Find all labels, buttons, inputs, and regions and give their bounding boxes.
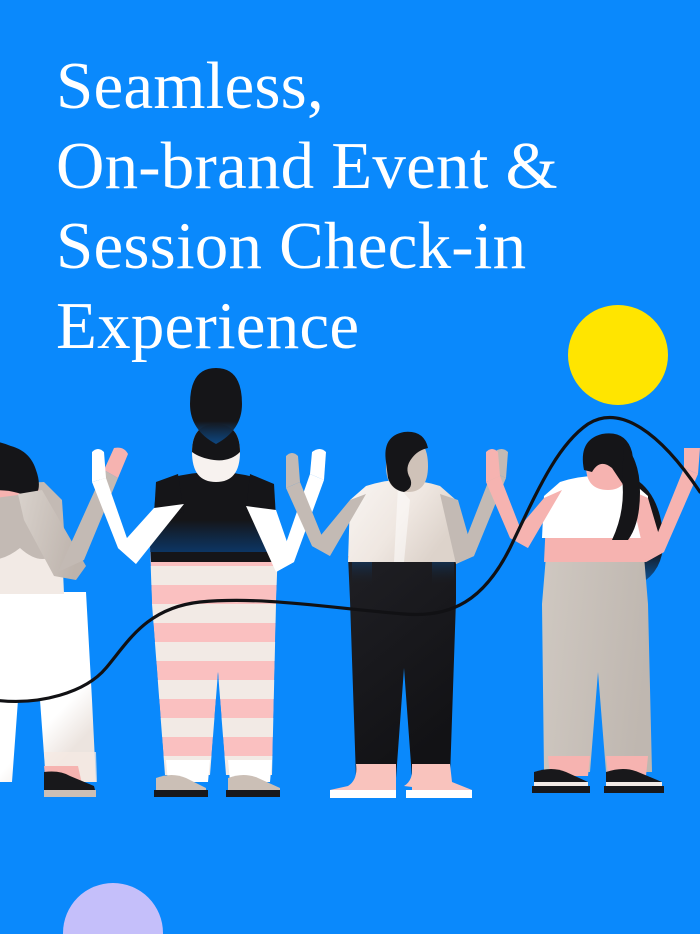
figure-4-shoe-right-sole xyxy=(604,786,664,793)
lavender-circle xyxy=(63,883,163,934)
figure-2-shoe-left-sole xyxy=(154,790,208,797)
figure-4-trousers xyxy=(542,556,652,772)
figure-4-shoe-left-sole xyxy=(532,786,590,793)
figure-1-shoe-sole xyxy=(44,790,96,797)
figure-2-hand-left xyxy=(92,449,106,482)
poster-canvas: Seamless, On-brand Event & Session Check… xyxy=(0,0,700,934)
figure-person-4 xyxy=(486,433,700,793)
figure-3-trousers xyxy=(348,556,456,778)
figure-2-shoe-right-sole xyxy=(226,790,280,797)
figure-person-2 xyxy=(92,368,326,800)
page-title: Seamless, On-brand Event & Session Check… xyxy=(56,46,656,366)
figure-3-hand-left xyxy=(286,453,300,488)
figure-3-sock-right xyxy=(406,790,472,798)
figure-3-sock-left xyxy=(330,790,396,798)
figure-4-forearm-left xyxy=(486,476,528,548)
